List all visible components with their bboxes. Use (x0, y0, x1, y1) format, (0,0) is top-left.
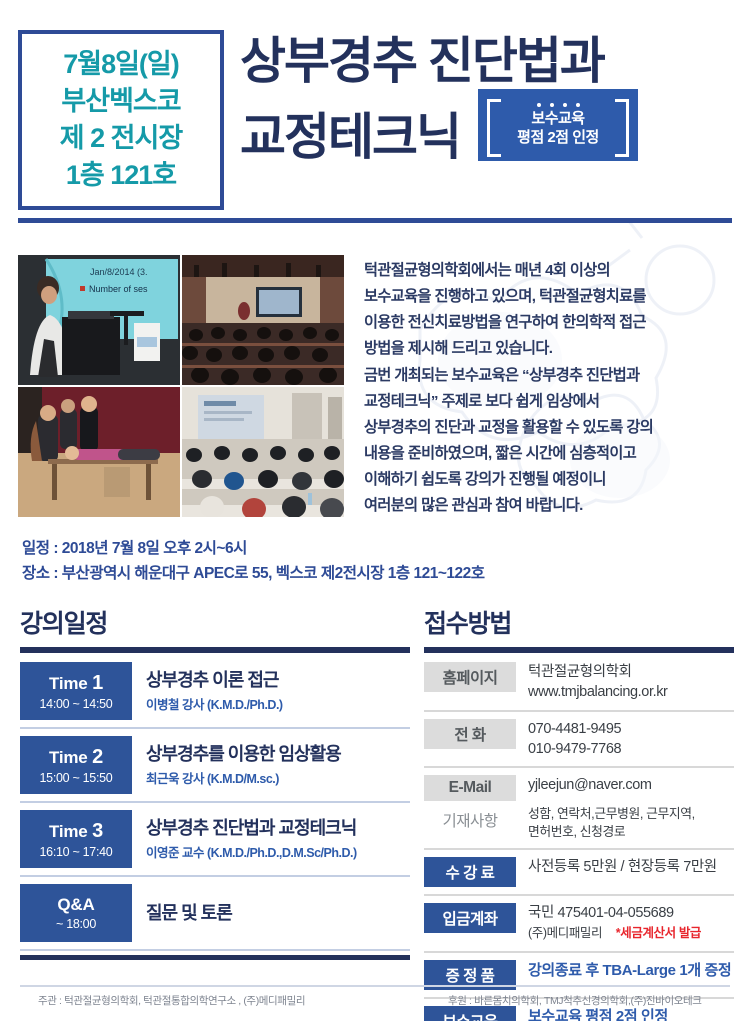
intro-line-1: 턱관절균형의학회에서는 매년 4회 이상의 (364, 258, 740, 284)
registration-label-required-fields: 기재사항 (424, 805, 516, 835)
session-title-qa: 질문 및 토론 (146, 902, 232, 925)
registration-value-gift: 강의종료 후 TBA-Large 1개 증정 (516, 960, 731, 981)
lecture-schedule-section: 강의일정 Time 1 14:00 ~ 14:50 상부경추 이론 접근 이병철… (20, 604, 410, 960)
seated-audience-photo (182, 387, 344, 517)
intro-line-2: 보수교육을 진행하고 있으며, 턱관절균형치료를 (364, 284, 740, 310)
table-row: Q&A ~ 18:00 질문 및 토론 (20, 877, 410, 951)
bracket-left-icon (487, 99, 501, 157)
badge-line-2: 평점 2점 인정 (517, 129, 599, 148)
hands-on-demonstration-photo (18, 387, 180, 517)
time-badge-2: Time 2 15:00 ~ 15:50 (20, 736, 132, 794)
registration-value-email[interactable]: yjleejun@naver.com (516, 775, 652, 795)
time-badge-3: Time 3 16:10 ~ 17:40 (20, 810, 132, 868)
time-badge-hours-2: 15:00 ~ 15:50 (40, 771, 113, 785)
credit-badge: 보수교육 평점 2점 인정 (478, 89, 638, 161)
session-presenter-2: 최근욱 강사 (K.M.D/M.sc.) (146, 768, 341, 787)
table-row: Time 3 16:10 ~ 17:40 상부경추 진단법과 교정테크닉 이영준… (20, 803, 410, 877)
footer-host: 주관 : 턱관절균형의학회, 턱관절통합의학연구소 , (주)메디패밀리 (38, 993, 305, 1008)
time-badge-label-3: Time 3 (49, 820, 103, 843)
registration-value-homepage: 턱관절균형의학회 www.tmjbalancing.or.kr (516, 662, 667, 703)
registration-label-email: E-Mail (424, 775, 516, 801)
intro-line-7: 상부경추의 진단과 교정을 활용할 수 있도록 강의 (364, 415, 740, 441)
phone-number-2: 010-9479-7768 (528, 739, 621, 759)
date-line-4: 1층 121호 (66, 157, 176, 194)
date-line-3: 제 2 전시장 (60, 120, 182, 157)
registration-label-bank-account: 입금계좌 (424, 903, 516, 933)
poster-title-line-1: 상부경추 진단법과 (240, 34, 740, 89)
registration-value-fee: 사전등록 5만원 / 현장등록 7만원 (516, 857, 717, 877)
session-presenter-1: 이병철 강사 (K.M.D./Ph.D.) (146, 694, 283, 713)
bank-account-number: 국민 475401-04-055689 (528, 903, 701, 923)
date-line-1: 7월8일(일) (63, 46, 179, 83)
registration-section: 접수방법 홈페이지 턱관절균형의학회 www.tmjbalancing.or.k… (424, 604, 734, 1021)
svg-text:Number of ses: Number of ses (89, 284, 148, 294)
intro-line-6: 교정테크닉” 주제로 보다 쉽게 임상에서 (364, 389, 740, 415)
footer-divider (20, 985, 730, 987)
table-row: Time 1 14:00 ~ 14:50 상부경추 이론 접근 이병철 강사 (… (20, 655, 410, 729)
time-badge-label-qa: Q&A (57, 895, 94, 915)
registration-label-homepage: 홈페이지 (424, 662, 516, 692)
session-title-2: 상부경추를 이용한 임상활용 (146, 743, 341, 766)
registration-label-fee: 수 강 료 (424, 857, 516, 887)
poster-header: 7월8일(일) 부산벡스코 제 2 전시장 1층 121호 상부경추 진단법과 … (0, 0, 750, 222)
poster-root: 7월8일(일) 부산벡스코 제 2 전시장 1층 121호 상부경추 진단법과 … (0, 0, 750, 1021)
auditorium-stage-photo (182, 255, 344, 385)
intro-line-5: 금번 개최되는 보수교육은 “상부경추 진단법과 (364, 363, 740, 389)
time-badge-hours-qa: ~ 18:00 (56, 917, 96, 931)
table-row: 전 화 070-4481-9495 010-9479-7768 (424, 712, 734, 769)
session-title-1: 상부경추 이론 접근 (146, 669, 283, 692)
session-body-1: 상부경추 이론 접근 이병철 강사 (K.M.D./Ph.D.) (132, 669, 283, 714)
intro-line-3: 이용한 전신치료방법을 연구하여 한의학적 접근 (364, 310, 740, 336)
time-badge-label-2: Time 2 (49, 746, 103, 769)
time-badge-1: Time 1 14:00 ~ 14:50 (20, 662, 132, 720)
registration-value-phone: 070-4481-9495 010-9479-7768 (516, 719, 621, 760)
bank-account-holder-row: (주)메디패밀리 *세금계산서 발급 (528, 923, 701, 943)
homepage-url[interactable]: www.tmjbalancing.or.kr (528, 682, 667, 702)
intro-line-8: 내용을 준비하였으며, 짧은 시간에 심층적이고 (364, 441, 740, 467)
header-divider (18, 218, 732, 223)
table-row: Time 2 15:00 ~ 15:50 상부경추를 이용한 임상활용 최근욱 … (20, 729, 410, 803)
tax-invoice-note: *세금계산서 발급 (616, 926, 701, 940)
session-body-2: 상부경추를 이용한 임상활용 최근욱 강사 (K.M.D/M.sc.) (132, 743, 341, 788)
event-schedule-line: 일정 : 2018년 7월 8일 오후 2시~6시 (22, 536, 247, 558)
event-venue-line: 장소 : 부산광역시 해운대구 APEC로 55, 벡스코 제2전시장 1층 1… (22, 561, 485, 583)
date-venue-box: 7월8일(일) 부산벡스코 제 2 전시장 1층 121호 (18, 30, 224, 210)
photo-collage: Jan/8/2014 (3. Number of ses (18, 255, 344, 517)
title-block: 상부경추 진단법과 교정테크닉 보수교육 평점 2점 인정 (240, 34, 740, 165)
badge-dots-icon (537, 103, 580, 107)
registration-label-phone: 전 화 (424, 719, 516, 749)
bracket-right-icon (615, 99, 629, 157)
table-row: 증 정 품 강의종료 후 TBA-Large 1개 증정 (424, 953, 734, 999)
time-badge-qa: Q&A ~ 18:00 (20, 884, 132, 942)
lecture-schedule-heading: 강의일정 (20, 604, 410, 640)
required-fields-line-1: 성함, 연락처,근무병원, 근무지역, (528, 805, 695, 823)
table-row: 기재사항 성함, 연락처,근무병원, 근무지역, 면허번호, 신청경로 (424, 803, 734, 850)
table-row: 홈페이지 턱관절균형의학회 www.tmjbalancing.or.kr (424, 655, 734, 712)
intro-line-10: 여러분의 많은 관심과 참여 바랍니다. (364, 493, 740, 519)
session-title-3: 상부경추 진단법과 교정테크닉 (146, 817, 357, 840)
intro-line-4: 방법을 제시해 드리고 있습니다. (364, 336, 740, 362)
intro-line-9: 이해하기 쉽도록 강의가 진행될 예정이니 (364, 467, 740, 493)
bank-account-holder: (주)메디패밀리 (528, 926, 602, 940)
intro-paragraph: 턱관절균형의학회에서는 매년 4회 이상의 보수교육을 진행하고 있으며, 턱관… (364, 258, 740, 519)
required-fields-line-2: 면허번호, 신청경로 (528, 823, 695, 841)
session-presenter-3: 이영준 교수 (K.M.D./Ph.D.,D.M.Sc/Ph.D.) (146, 842, 357, 861)
footer-sponsor: 후원 : 바른몸치의학회, TMJ척추신경의학회,(주)진바이오테크 (448, 993, 702, 1008)
registration-value-bank-account: 국민 475401-04-055689 (주)메디패밀리 *세금계산서 발급 (516, 903, 701, 944)
lecture-schedule-bottom-bar (20, 955, 410, 960)
registration-underline (424, 647, 734, 653)
table-row: 입금계좌 국민 475401-04-055689 (주)메디패밀리 *세금계산서… (424, 896, 734, 953)
phone-number-1: 070-4481-9495 (528, 719, 621, 739)
homepage-org: 턱관절균형의학회 (528, 662, 667, 682)
time-badge-label-1: Time 1 (49, 672, 103, 695)
poster-title-line-2-row: 교정테크닉 보수교육 평점 2점 인정 (240, 89, 740, 165)
speaker-at-podium-photo: Jan/8/2014 (3. Number of ses (18, 255, 180, 385)
session-body-3: 상부경추 진단법과 교정테크닉 이영준 교수 (K.M.D./Ph.D.,D.M… (132, 817, 357, 862)
table-row: 수 강 료 사전등록 5만원 / 현장등록 7만원 (424, 850, 734, 896)
lecture-schedule-underline (20, 647, 410, 653)
svg-text:Jan/8/2014 (3.: Jan/8/2014 (3. (90, 267, 148, 277)
session-body-qa: 질문 및 토론 (132, 902, 232, 925)
date-line-2: 부산벡스코 (61, 83, 180, 120)
time-badge-hours-3: 16:10 ~ 17:40 (40, 845, 113, 859)
registration-value-required-fields: 성함, 연락처,근무병원, 근무지역, 면허번호, 신청경로 (516, 805, 695, 841)
table-row: E-Mail yjleejun@naver.com (424, 768, 734, 803)
badge-line-1: 보수교육 (531, 110, 584, 129)
registration-heading: 접수방법 (424, 604, 734, 640)
time-badge-hours-1: 14:00 ~ 14:50 (40, 697, 113, 711)
poster-title-line-2: 교정테크닉 (240, 110, 460, 165)
